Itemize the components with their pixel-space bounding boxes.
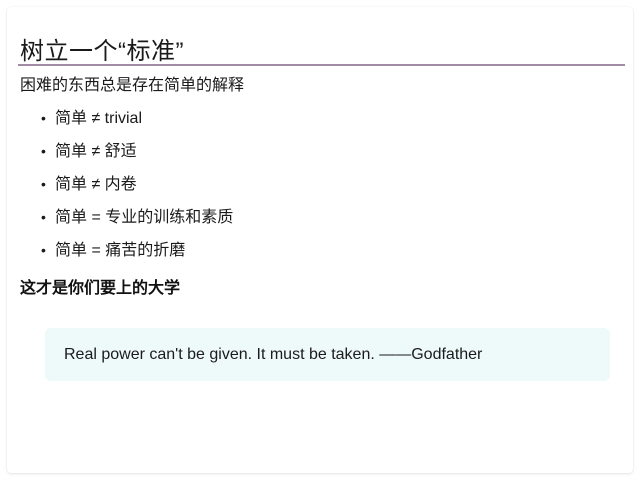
list-item: 简单 = 专业的训练和素质 — [20, 208, 623, 228]
list-item-label: 简单 ≠ 舒适 — [55, 143, 137, 160]
list-item-label: 简单 ≠ 内卷 — [55, 176, 137, 193]
list-item-label: 简单 = 痛苦的折磨 — [55, 242, 185, 259]
quote-callout: Real power can't be given. It must be ta… — [45, 328, 610, 381]
list-item: 简单 ≠ 内卷 — [20, 175, 623, 195]
slide-card: 树立一个“标准” 困难的东西总是存在简单的解释 简单 ≠ trivial 简单 … — [7, 7, 633, 473]
list-item: 简单 = 痛苦的折磨 — [20, 241, 623, 261]
title-divider — [18, 64, 625, 66]
list-item-label: 简单 = 专业的训练和素质 — [55, 209, 233, 226]
list-item: 简单 ≠ trivial — [20, 109, 623, 129]
closing-paragraph: 这才是你们要上的大学 — [20, 277, 623, 301]
list-item-label: 简单 ≠ trivial — [55, 110, 142, 127]
bullet-list: 简单 ≠ trivial 简单 ≠ 舒适 简单 ≠ 内卷 简单 = 专业的训练和… — [20, 109, 623, 261]
slide-body: 困难的东西总是存在简单的解释 简单 ≠ trivial 简单 ≠ 舒适 简单 ≠… — [20, 73, 623, 381]
list-item: 简单 ≠ 舒适 — [20, 142, 623, 162]
quote-text: Real power can't be given. It must be ta… — [45, 344, 482, 366]
intro-paragraph: 困难的东西总是存在简单的解释 — [20, 73, 623, 99]
